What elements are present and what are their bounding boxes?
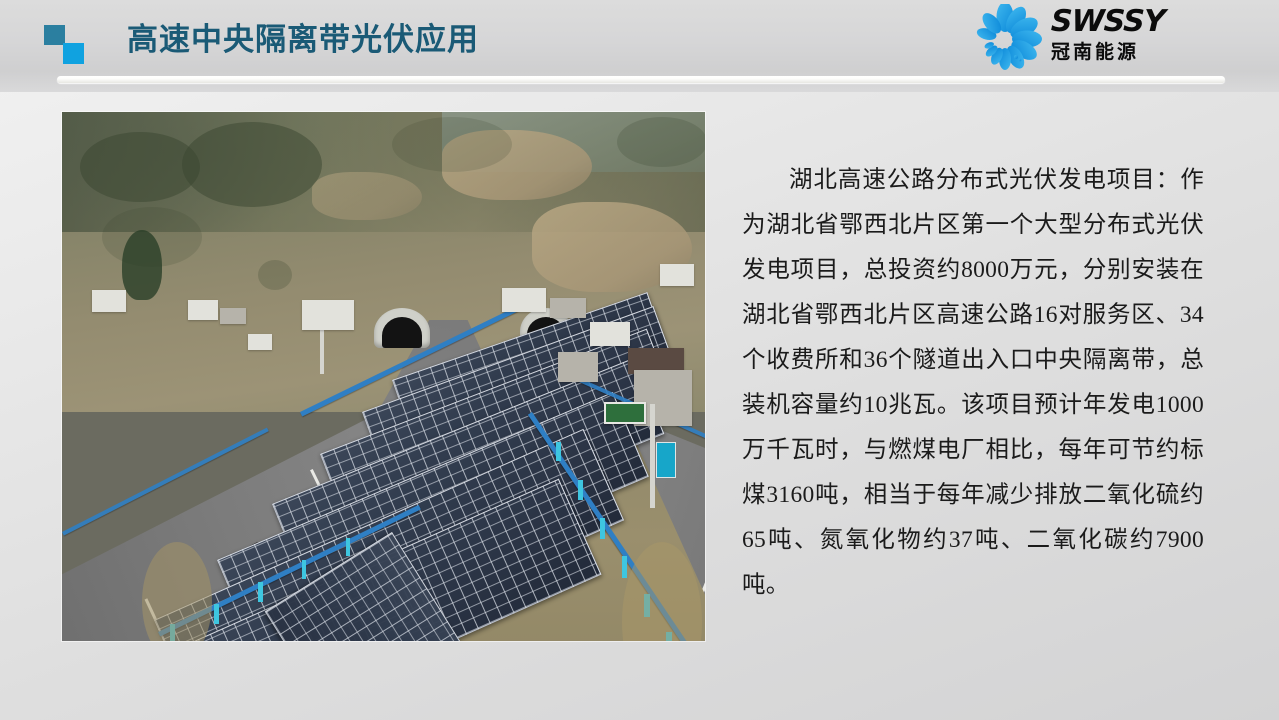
guardrail-post [556,442,561,461]
logo-text-block: SWSSY 冠南能源 [1051,6,1219,66]
building [502,288,546,312]
guardrail-post [302,560,306,579]
square-dark-icon [44,25,65,45]
slide-root: 高速中央隔离带光伏应用 [0,0,1279,720]
photo-scene [62,112,705,641]
cypress-tree [122,230,162,300]
scrub-vegetation [182,122,322,207]
scrub-vegetation [617,117,705,167]
building [248,334,272,350]
guardrail-post [258,582,263,602]
logo-wordmark: SWSSY [1050,6,1219,38]
logo-chinese-name: 冠南能源 [1051,40,1219,66]
guardrail-post [600,518,605,539]
guardrail-post [622,556,627,578]
bare-earth-patch [312,172,422,220]
guardrail-post [578,480,583,500]
overhead-sign-board [302,300,354,330]
slide-header: 高速中央隔离带光伏应用 [0,0,1279,92]
highway-sign-green [604,402,646,424]
guardrail-post [214,604,219,624]
description-panel: 湖北高速公路分布式光伏发电项目：作为湖北省鄂西北片区第一个大型分布式光伏发电项目… [742,158,1204,608]
building [550,298,586,318]
square-light-icon [63,43,84,64]
header-bullet-decoration [44,25,92,65]
scrub-vegetation [258,260,292,290]
header-divider [57,76,1225,83]
guardrail-post [346,538,350,556]
project-photo [62,112,705,641]
building [558,352,598,382]
project-description: 湖北高速公路分布式光伏发电项目：作为湖北省鄂西北片区第一个大型分布式光伏发电项目… [742,158,1204,608]
tunnel-mouth [382,317,422,348]
page-title: 高速中央隔离带光伏应用 [127,20,479,60]
sign-post [650,404,655,508]
company-logo: SWSSY 冠南能源 [967,4,1217,74]
building [92,290,126,312]
building [220,308,246,324]
scrub-vegetation [392,117,512,172]
building [660,264,694,286]
sunburst-petal-logo-icon [967,4,1043,74]
building [590,322,630,346]
building [188,300,218,320]
highway-sign-blue [656,442,676,478]
